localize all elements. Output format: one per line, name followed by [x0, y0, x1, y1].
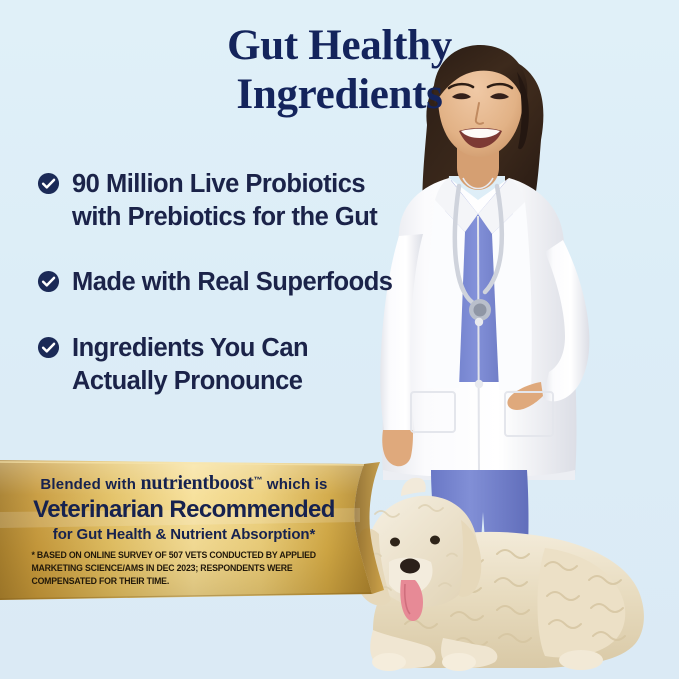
check-circle-icon: [37, 336, 60, 359]
nutrientboost-brand-name: nutrientboost: [140, 472, 253, 494]
check-circle-icon: [37, 270, 60, 293]
list-item-label: Ingredients You Can Actually Pronounce: [72, 332, 308, 397]
benefits-list: 90 Million Live Probiotics with Prebioti…: [37, 168, 457, 397]
banner-line1-prefix: Blended with: [40, 476, 140, 493]
headline-line-2: Ingredients: [0, 71, 679, 120]
veterinarian-recommended-banner: Blended with nutrientboost™ which is Vet…: [0, 460, 390, 602]
list-item: Made with Real Superfoods: [37, 266, 457, 299]
check-circle-icon: [37, 172, 60, 195]
banner-headline: Veterinarian Recommended: [0, 496, 368, 524]
advertisement-graphic: Gut Healthy Ingredients 90 Million Live …: [0, 0, 679, 679]
page-title: Gut Healthy Ingredients: [0, 22, 679, 119]
list-item-label: 90 Million Live Probiotics with Prebioti…: [72, 168, 377, 233]
list-item: 90 Million Live Probiotics with Prebioti…: [37, 168, 457, 233]
banner-subline: for Gut Health & Nutrient Absorption*: [0, 526, 368, 543]
list-item: Ingredients You Can Actually Pronounce: [37, 332, 457, 397]
list-item-label: Made with Real Superfoods: [72, 266, 392, 299]
headline-line-1: Gut Healthy: [227, 22, 452, 69]
banner-line1-suffix: which is: [262, 476, 327, 493]
banner-line-1: Blended with nutrientboost™ which is: [0, 472, 368, 495]
banner-disclaimer: * BASED ON ONLINE SURVEY OF 507 VETS CON…: [31, 550, 340, 588]
